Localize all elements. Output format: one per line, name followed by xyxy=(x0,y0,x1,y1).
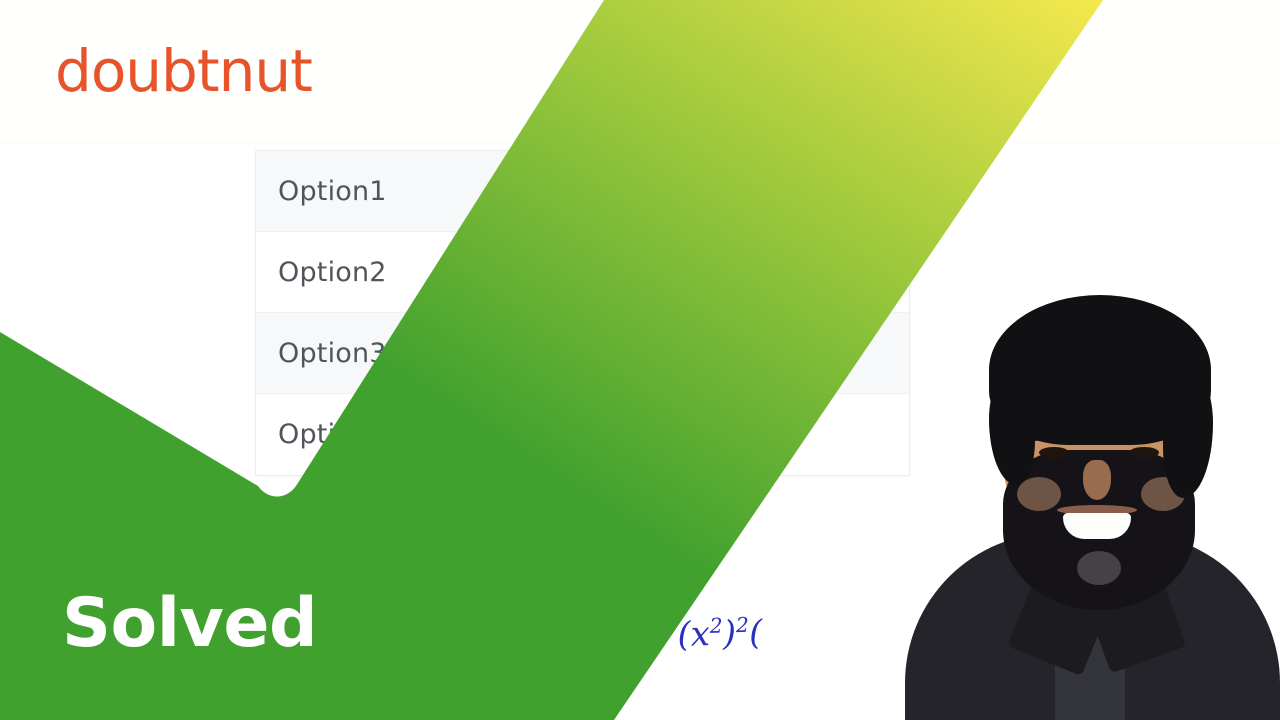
hair-side-left xyxy=(989,375,1035,485)
math-coefficient: 3 (x xyxy=(645,614,711,656)
option-row[interactable]: Option2 xyxy=(256,232,909,313)
thumbnail-canvas: doubtnut Option1 Option2 Option3 Option4… xyxy=(0,0,1280,720)
handwritten-math-expression: 3 (x2)2( xyxy=(644,612,762,655)
chin-patch xyxy=(1077,551,1121,585)
option-label: Option1 xyxy=(278,176,387,207)
cheek-left xyxy=(1017,477,1061,511)
instructor-photo xyxy=(905,255,1280,720)
doubtnut-logo[interactable]: doubtnut xyxy=(55,42,312,100)
eye-right xyxy=(1129,447,1159,458)
math-paren-close: ) xyxy=(722,613,736,653)
option-row[interactable]: Option3 xyxy=(256,313,909,394)
hair-side-right xyxy=(1163,373,1213,498)
option-row[interactable]: Option1 xyxy=(256,151,909,232)
option-label: Option3 xyxy=(278,338,387,369)
math-exponent-inner: 2 xyxy=(709,614,723,638)
math-exponent-outer: 2 xyxy=(736,613,750,637)
solved-badge: Solved xyxy=(62,588,317,660)
eye-left xyxy=(1039,447,1069,458)
option-row[interactable]: Option4 xyxy=(256,394,909,475)
smile-teeth xyxy=(1063,513,1131,539)
nose xyxy=(1083,460,1111,500)
options-card: Option1 Option2 Option3 Option4 xyxy=(255,150,910,476)
math-paren-open: ( xyxy=(749,613,763,653)
option-label: Option2 xyxy=(278,257,387,288)
option-label: Option4 xyxy=(278,419,387,450)
